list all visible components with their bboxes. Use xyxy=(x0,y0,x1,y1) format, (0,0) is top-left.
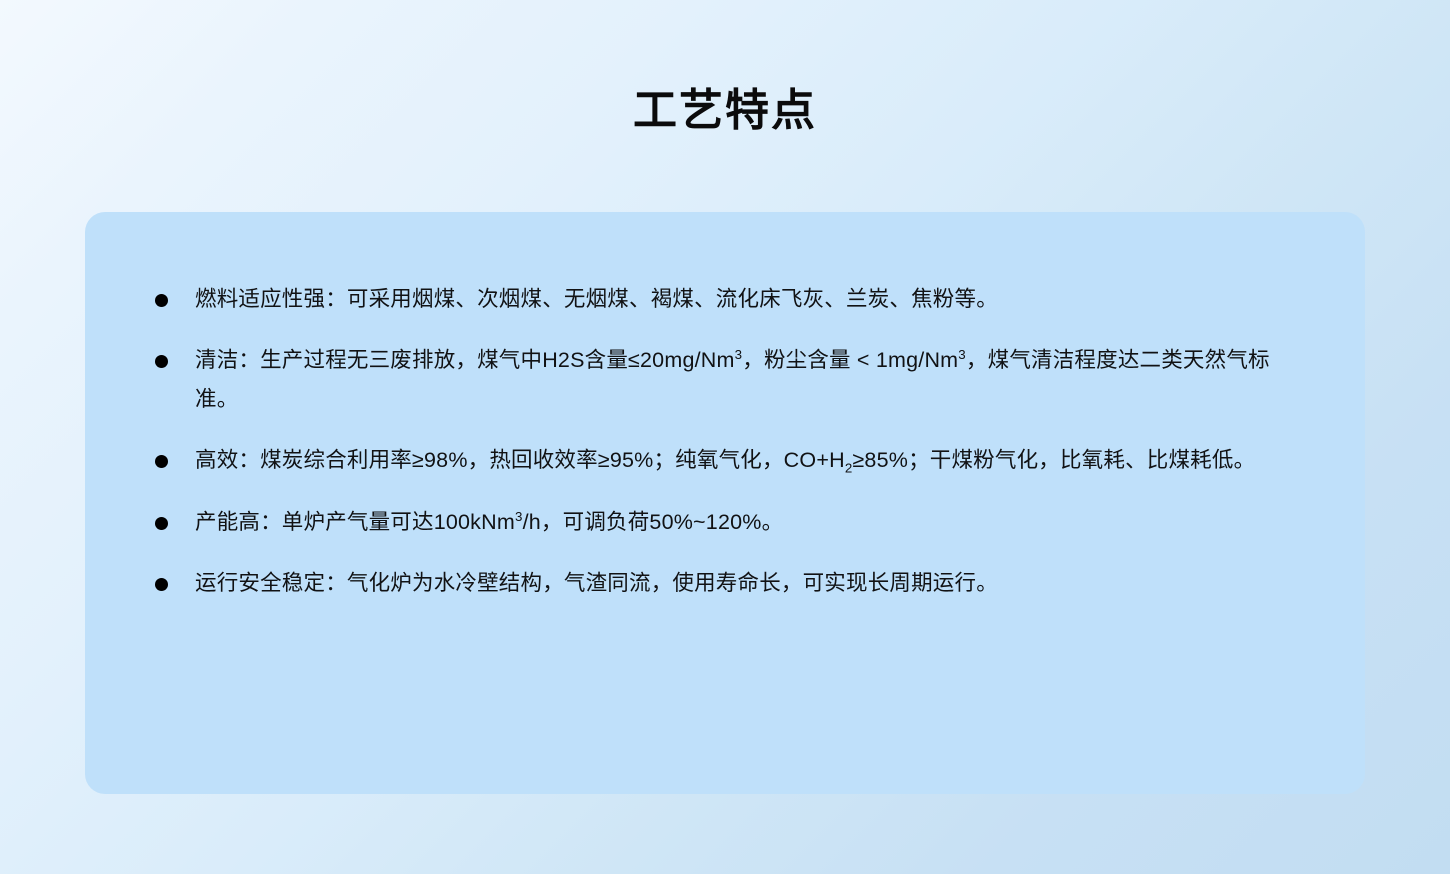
feature-text: 产能高：单炉产气量可达100kNm3/h，可调负荷50%~120%。 xyxy=(195,510,783,534)
feature-text: 运行安全稳定：气化炉为水冷壁结构，气渣同流，使用寿命长，可实现长周期运行。 xyxy=(195,571,998,595)
page-title: 工艺特点 xyxy=(633,85,817,138)
feature-list-item: 高效：煤炭综合利用率≥98%，热回收效率≥95%；纯氧气化，CO+H2≥85%；… xyxy=(147,441,1311,480)
feature-text: 高效：煤炭综合利用率≥98%，热回收效率≥95%；纯氧气化，CO+H2≥85%；… xyxy=(195,448,1255,472)
feature-list: 燃料适应性强：可采用烟煤、次烟煤、无烟煤、褐煤、流化床飞灰、兰炭、焦粉等。清洁：… xyxy=(147,280,1311,603)
feature-card: 燃料适应性强：可采用烟煤、次烟煤、无烟煤、褐煤、流化床飞灰、兰炭、焦粉等。清洁：… xyxy=(85,212,1365,794)
filled-circle-bullet-icon xyxy=(155,517,168,530)
superscript: 3 xyxy=(515,508,523,523)
title-block: 工艺特点 xyxy=(0,0,1450,168)
superscript: 3 xyxy=(735,347,743,362)
feature-text: 燃料适应性强：可采用烟煤、次烟煤、无烟煤、褐煤、流化床飞灰、兰炭、焦粉等。 xyxy=(195,287,998,311)
filled-circle-bullet-icon xyxy=(155,294,168,307)
filled-circle-bullet-icon xyxy=(155,355,168,368)
filled-circle-bullet-icon xyxy=(155,578,168,591)
filled-circle-bullet-icon xyxy=(155,455,168,468)
slide-root: 工艺特点 燃料适应性强：可采用烟煤、次烟煤、无烟煤、褐煤、流化床飞灰、兰炭、焦粉… xyxy=(0,0,1450,874)
feature-text: 清洁：生产过程无三废排放，煤气中H2S含量≤20mg/Nm3，粉尘含量 < 1m… xyxy=(195,348,1270,411)
feature-list-item: 燃料适应性强：可采用烟煤、次烟煤、无烟煤、褐煤、流化床飞灰、兰炭、焦粉等。 xyxy=(147,280,1311,319)
feature-list-item: 产能高：单炉产气量可达100kNm3/h，可调负荷50%~120%。 xyxy=(147,503,1311,542)
feature-list-item: 清洁：生产过程无三废排放，煤气中H2S含量≤20mg/Nm3，粉尘含量 < 1m… xyxy=(147,341,1311,419)
feature-list-item: 运行安全稳定：气化炉为水冷壁结构，气渣同流，使用寿命长，可实现长周期运行。 xyxy=(147,564,1311,603)
superscript: 3 xyxy=(958,347,966,362)
subscript: 2 xyxy=(845,461,853,476)
